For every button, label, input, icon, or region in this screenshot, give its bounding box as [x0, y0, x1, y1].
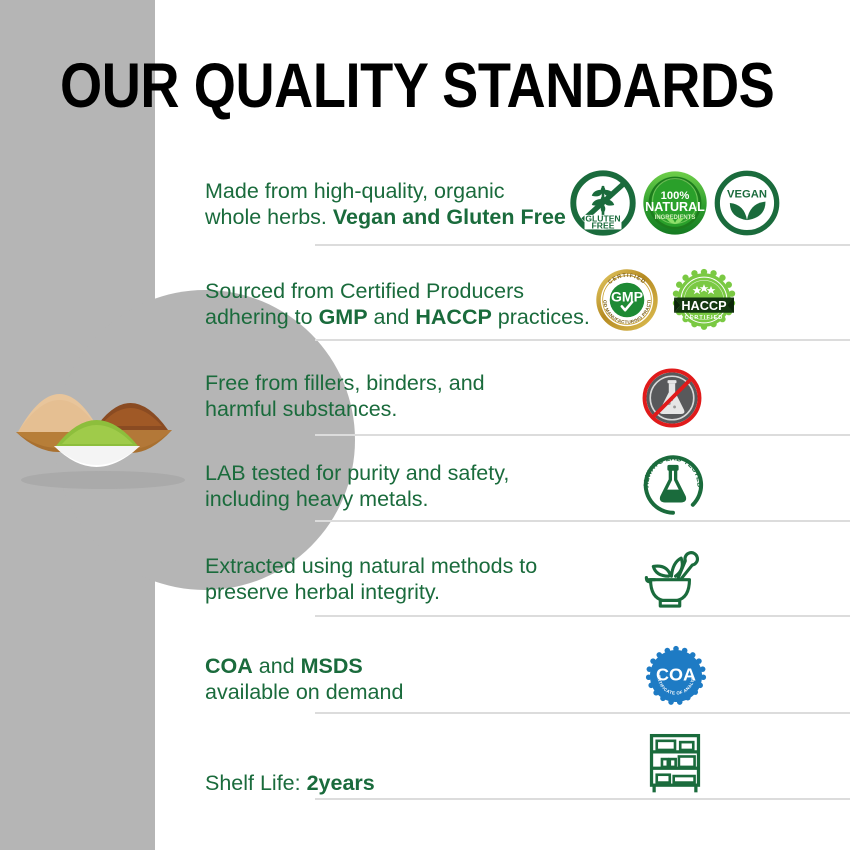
gmp-certified-badge: GMP CERTIFIED GOOD MANUFACTURING PRACTIC…: [595, 268, 659, 332]
row-2-line-1: Sourced from Certified Producers: [205, 279, 524, 303]
no-chemicals-icon: [640, 366, 704, 430]
row-6-icons: COA CERTIFICATE OF ANALYSIS: [645, 645, 707, 707]
infographic-root: OUR QUALITY STANDARDS Made from high-q: [0, 0, 850, 850]
row-2-p1: GMP: [319, 305, 368, 329]
row-5-icons: [635, 547, 705, 613]
row-3-text: Free from fillers, binders, and harmful …: [205, 370, 485, 422]
vegan-badge: VEGAN: [714, 170, 780, 236]
row-2-p2: and: [368, 305, 416, 329]
row-3-separator: [315, 434, 850, 436]
always-lab-tested-icon: ALWAYS LAB TESTED: [640, 452, 706, 518]
svg-text:NATURAL: NATURAL: [645, 200, 705, 214]
row-5-line-1: Extracted using natural methods to: [205, 554, 537, 578]
row-7-label: Shelf Life:: [205, 771, 307, 795]
row-7-value: 2years: [307, 771, 375, 795]
row-2-p3: HACCP: [415, 305, 491, 329]
row-2-p0: adhering to: [205, 305, 319, 329]
coa-badge: COA CERTIFICATE OF ANALYSIS: [645, 645, 707, 707]
row-4-icons: ALWAYS LAB TESTED: [640, 452, 706, 518]
row-4-line-2: including heavy metals.: [205, 487, 428, 511]
row-6-text: COA and MSDS available on demand: [205, 653, 403, 705]
row-7-icons: [645, 730, 705, 796]
page-title: OUR QUALITY STANDARDS: [60, 52, 774, 120]
row-1-separator: [315, 244, 850, 246]
row-3-line-2: harmful substances.: [205, 397, 397, 421]
100-natural-ingredients-badge: 100% NATURAL INGREDIENTS: [642, 170, 708, 236]
svg-text:GMP: GMP: [611, 288, 643, 304]
row-3-icons: [640, 366, 704, 430]
svg-text:CERTIFIED: CERTIFIED: [685, 315, 724, 321]
svg-text:HACCP: HACCP: [681, 298, 727, 313]
row-6-separator: [315, 712, 850, 714]
row-2-text: Sourced from Certified Producers adherin…: [205, 278, 590, 330]
row-4-separator: [315, 520, 850, 522]
row-6-line-2: available on demand: [205, 680, 403, 704]
row-2-icons: GMP CERTIFIED GOOD MANUFACTURING PRACTIC…: [595, 268, 739, 332]
row-6-msds: MSDS: [301, 654, 363, 678]
row-1-line-1: Made from high-quality, organic: [205, 179, 505, 203]
row-5-separator: [315, 615, 850, 617]
row-2-p4: practices.: [492, 305, 590, 329]
row-1-line-2-bold: Vegan and Gluten Free: [333, 205, 566, 229]
storage-shelf-icon: [645, 730, 705, 796]
product-photo: [8, 360, 198, 490]
gluten-free-badge: GLUTEN FREE: [570, 170, 636, 236]
svg-text:VEGAN: VEGAN: [727, 189, 767, 201]
row-1-icons: GLUTEN FREE 100%: [570, 170, 780, 236]
row-1-line-2: whole herbs.: [205, 205, 333, 229]
row-2-separator: [315, 339, 850, 341]
row-5-line-2: preserve herbal integrity.: [205, 580, 440, 604]
svg-text:INGREDIENTS: INGREDIENTS: [655, 215, 696, 221]
row-6-and: and: [253, 654, 301, 678]
row-6-coa: COA: [205, 654, 253, 678]
row-4-line-1: LAB tested for purity and safety,: [205, 461, 509, 485]
row-5-text: Extracted using natural methods to prese…: [205, 553, 537, 605]
row-7-separator: [315, 798, 850, 800]
row-4-text: LAB tested for purity and safety, includ…: [205, 460, 509, 512]
row-1-text: Made from high-quality, organic whole he…: [205, 178, 566, 230]
haccp-certified-badge: HACCP CERTIFIED: [669, 268, 739, 332]
mortar-and-pestle-icon: [635, 547, 705, 613]
row-7-text: Shelf Life: 2years: [205, 770, 375, 796]
row-3-line-1: Free from fillers, binders, and: [205, 371, 485, 395]
svg-text:FREE: FREE: [592, 221, 615, 231]
